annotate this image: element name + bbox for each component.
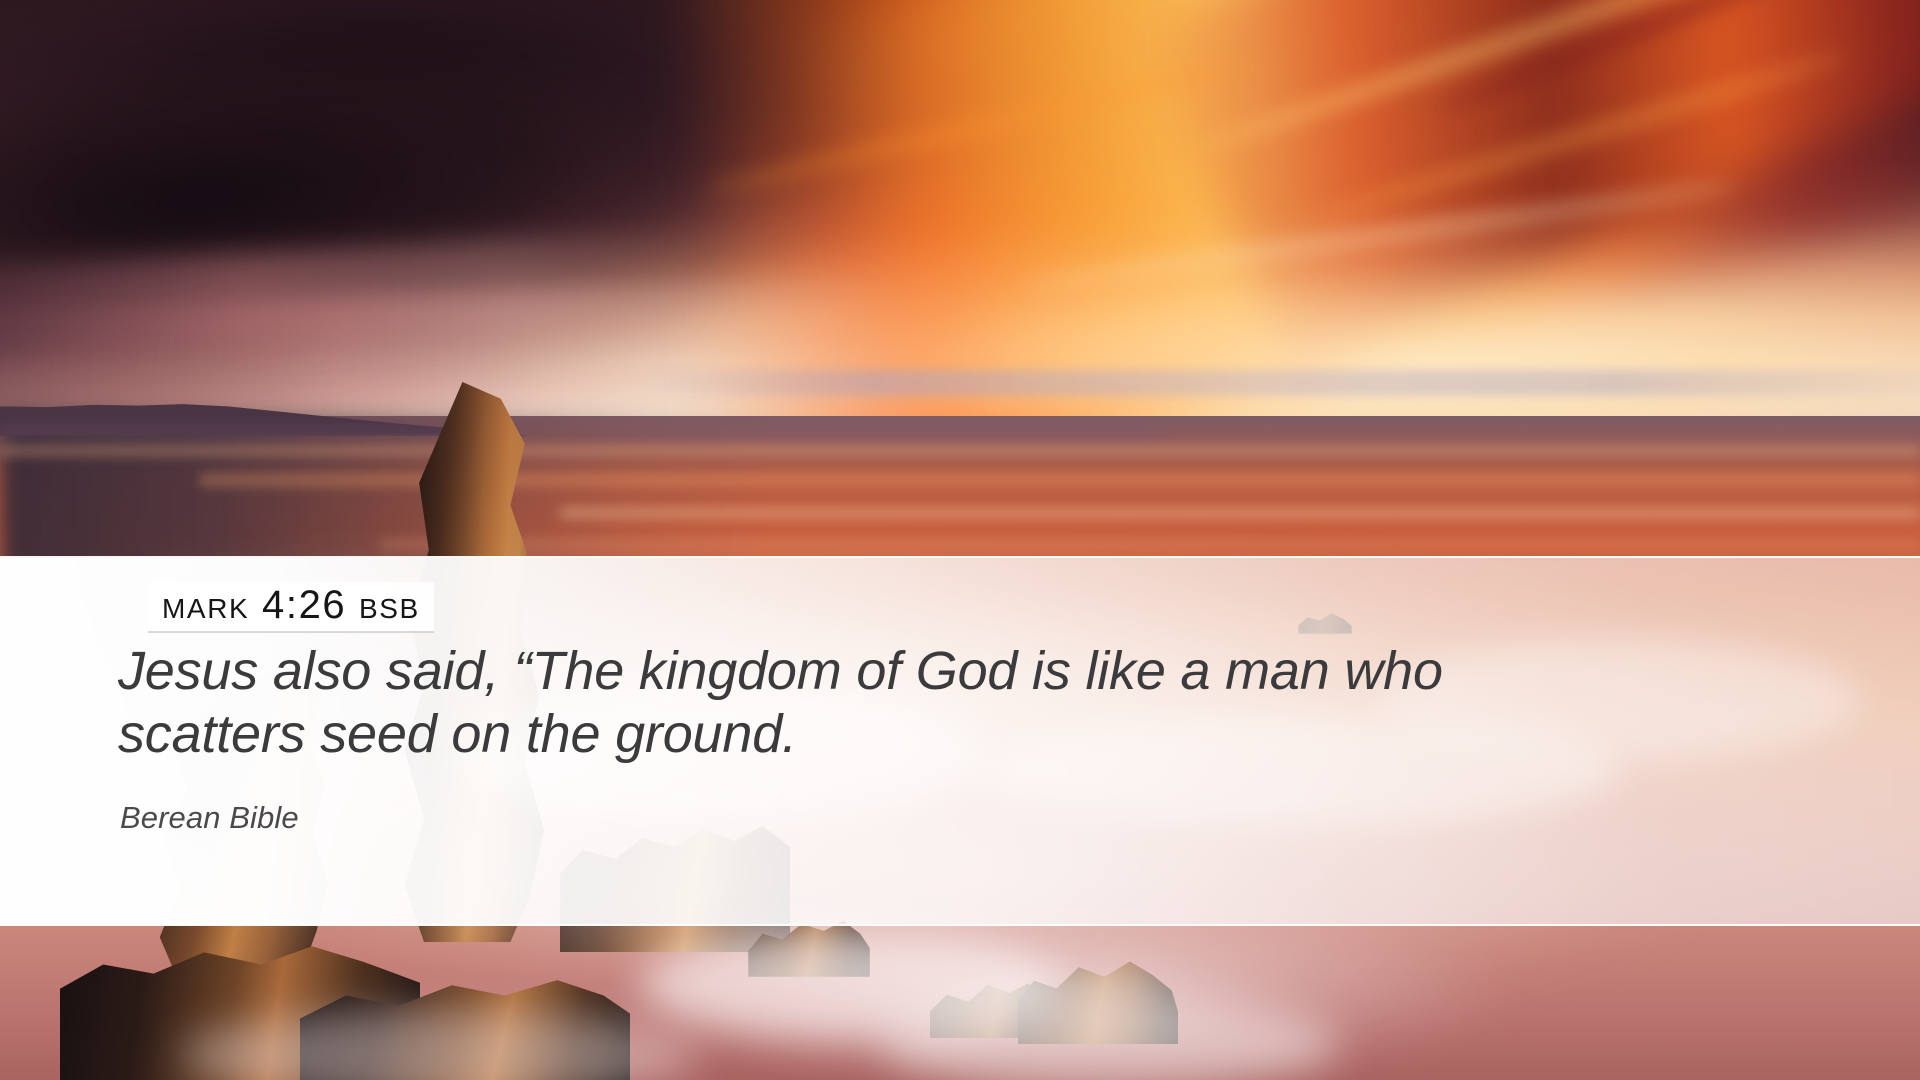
water-streak-3 bbox=[560, 508, 1920, 518]
water-streak-1 bbox=[0, 446, 1920, 455]
wallpaper-canvas: Mark 4:26 BSB Jesus also said, “The king… bbox=[0, 0, 1920, 1080]
cirrus-band bbox=[640, 370, 1920, 396]
translation-attribution: Berean Bible bbox=[120, 800, 299, 836]
water-streak-4 bbox=[380, 540, 1920, 548]
quote-block: Mark 4:26 BSB Jesus also said, “The king… bbox=[0, 558, 1920, 925]
verse-reference-label: Mark 4:26 BSB bbox=[148, 582, 434, 633]
verse-text: Jesus also said, “The kingdom of God is … bbox=[118, 640, 1538, 766]
mist-veil-over-rocks-2 bbox=[880, 1000, 1340, 1080]
water-streak-5 bbox=[0, 428, 1160, 435]
verse-reference-wrapper: Mark 4:26 BSB bbox=[148, 582, 434, 633]
